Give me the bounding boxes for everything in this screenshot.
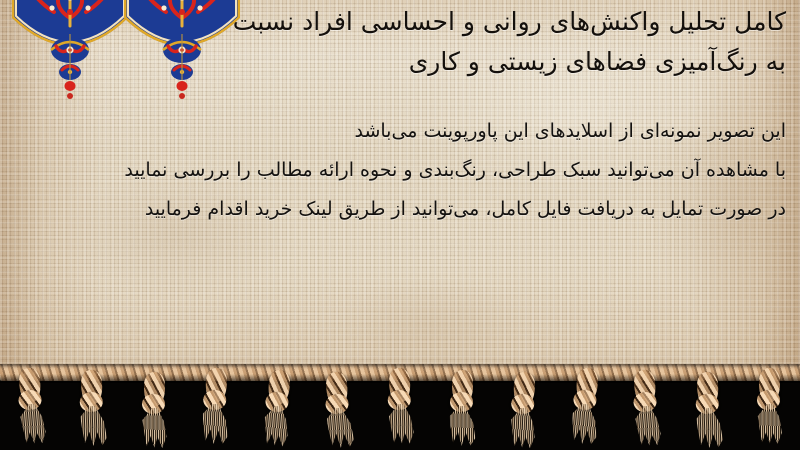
tassel-skirt [385,403,417,444]
tassel [505,371,542,448]
title-line-2: به رنگ‌آمیزی فضاهای زیستی و کاری [22,42,786,82]
tassel-skirt [199,403,231,444]
tassel [137,372,171,448]
slide-title: کامل تحلیل واکنش‌های روانی و احساسی افرا… [22,2,786,82]
tassel-skirt [693,407,725,448]
tassel [197,367,234,444]
tassel [689,371,726,448]
tassel [565,367,605,445]
tassel-skirt [77,405,109,446]
tassel-skirt [139,408,169,448]
tassel-skirt [507,407,539,448]
body-line-3: در صورت تمایل به دریافت فایل کامل، می‌تو… [22,190,786,229]
tassel-skirt [16,403,49,445]
presentation-slide: کامل تحلیل واکنش‌های روانی و احساسی افرا… [0,0,800,450]
tassel-skirt [567,403,600,445]
tassel [319,371,359,449]
slide-body: این تصویر نمونه‌ای از اسلایدهای این پاور… [22,112,786,229]
tassel-skirt [631,405,664,447]
body-line-2: با مشاهده آن می‌توانید سبک طراحی، رنگ‌بن… [22,151,786,190]
tassel-skirt [323,407,356,449]
tassel [257,369,297,447]
slide-text-layer: کامل تحلیل واکنش‌های روانی و احساسی افرا… [0,0,800,378]
tassel [752,368,786,444]
tassel [74,369,111,446]
tassel-skirt [754,404,784,444]
title-line-1: کامل تحلیل واکنش‌های روانی و احساسی افرا… [22,2,786,42]
body-line-1: این تصویر نمونه‌ای از اسلایدهای این پاور… [22,112,786,151]
tassel [626,369,666,447]
tassel-skirt [447,406,477,446]
fringe-band [0,364,800,450]
tassel [382,367,419,444]
tassel [11,367,51,445]
tassel-skirt [259,405,292,447]
tassel [445,370,479,446]
